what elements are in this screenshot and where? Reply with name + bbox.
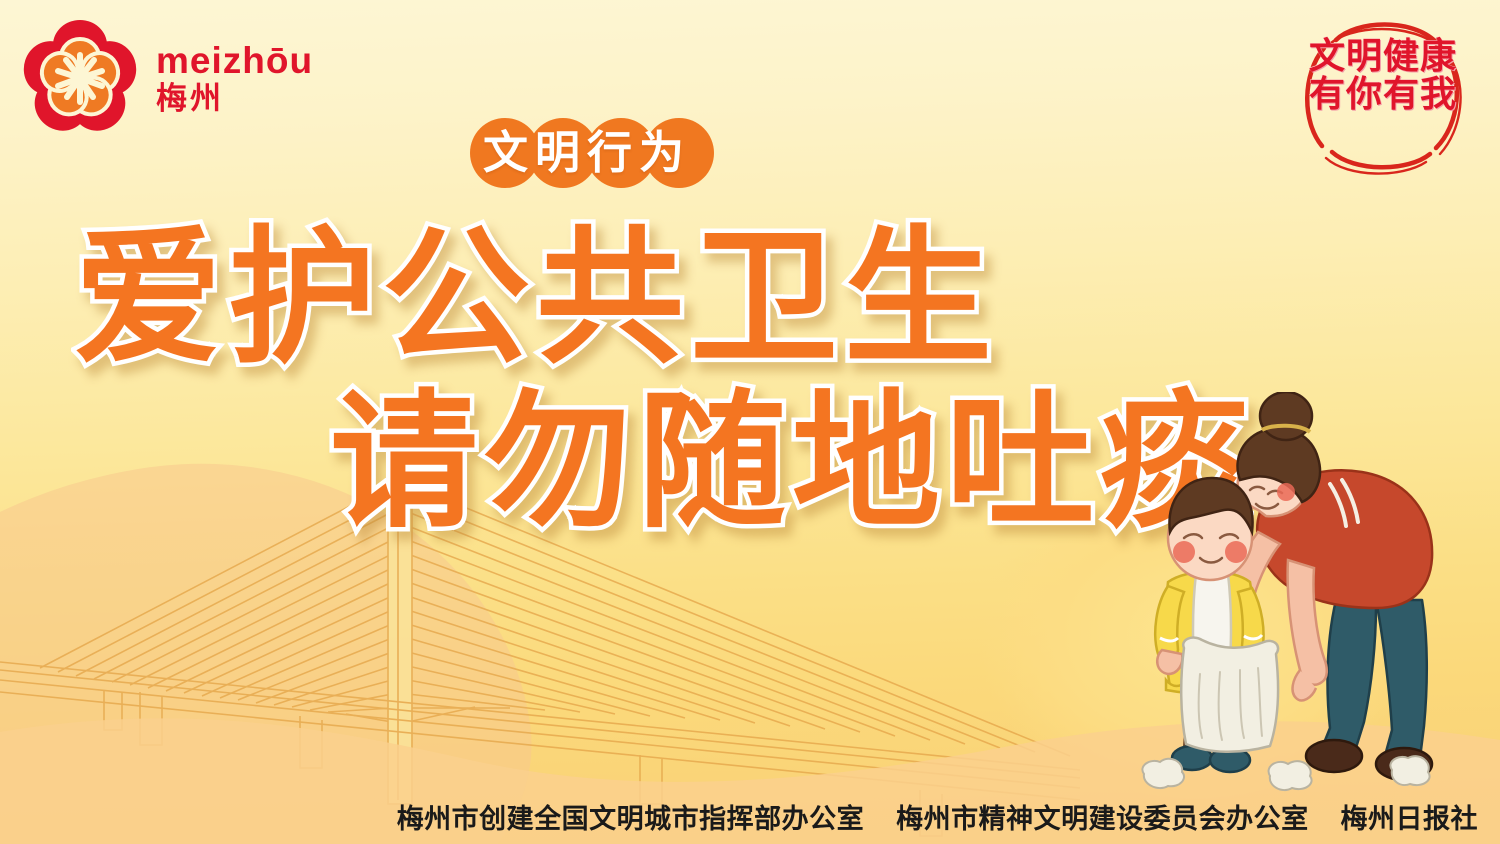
- seal-line-2: 有你有我: [1288, 76, 1478, 114]
- footer-org-1: 梅州市创建全国文明城市指挥部办公室: [397, 804, 865, 835]
- mother-and-child-illustration: [1140, 392, 1500, 812]
- tag-label: 文明行为: [470, 118, 704, 188]
- footer-organizations: 梅州市创建全国文明城市指挥部办公室 梅州市精神文明建设委员会办公室 梅州日报社: [397, 797, 1478, 836]
- logo-pinyin: meizhōu: [156, 42, 313, 79]
- logo-chinese-name: 梅州: [156, 84, 313, 115]
- headline-block: 爱护公共卫生 请勿随地吐痰: [0, 222, 1250, 540]
- plum-blossom-icon: [22, 20, 138, 136]
- headline-line-2: 请勿随地吐痰: [330, 386, 1250, 540]
- headline-line-1: 爱护公共卫生: [74, 222, 1250, 376]
- civilization-health-seal: 文明健康 有你有我: [1288, 12, 1478, 180]
- footer-org-3: 梅州日报社: [1341, 804, 1479, 835]
- poster-canvas: meizhōu 梅州 文明健康 有你有我 文明行为: [0, 0, 1500, 844]
- brand-logo: meizhōu 梅州: [22, 20, 313, 136]
- footer-org-2: 梅州市精神文明建设委员会办公室: [896, 804, 1309, 835]
- footer-bar: 梅州市创建全国文明城市指挥部办公室 梅州市精神文明建设委员会办公室 梅州日报社: [0, 797, 1500, 836]
- civilized-behavior-tag: 文明行为: [470, 118, 704, 188]
- seal-line-1: 文明健康: [1288, 38, 1478, 76]
